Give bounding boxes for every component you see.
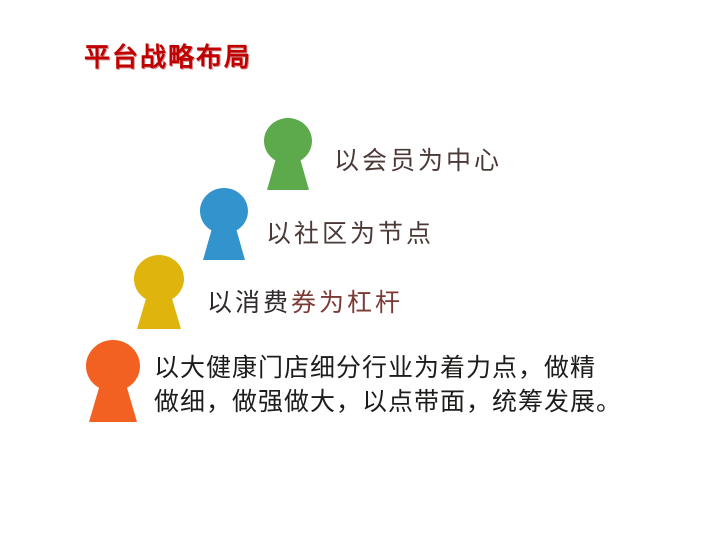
keyhole-icon-orange [84,338,142,426]
body-paragraph-line-1: 以大健康门店细分行业为着力点，做精 [154,352,710,386]
keyhole-icon-yellow [132,253,186,333]
bullet-label-voucher-lever-part2: 券为杠杆 [291,290,403,317]
bullet-label-community-node: 以社区为节点 [266,219,434,250]
bullet-label-voucher-lever-part1: 以消费 [207,290,291,317]
slide-canvas: 平台战略布局 以会员为中心 以社区为节点 以消费券为杠杆 以大健康门店细分行业为… [0,0,720,540]
page-title: 平台战略布局 [84,44,252,73]
body-paragraph: 以大健康门店细分行业为着力点，做精 做细，做强做大，以点带面，统筹发展。 [154,352,710,420]
bullet-label-voucher-lever: 以消费券为杠杆 [207,288,403,319]
keyhole-icon-blue [198,186,250,264]
bullet-label-member-center: 以会员为中心 [334,146,502,177]
body-paragraph-line-2: 做细，做强做大，以点带面，统筹发展。 [154,386,710,420]
keyhole-icon-green [262,116,314,194]
